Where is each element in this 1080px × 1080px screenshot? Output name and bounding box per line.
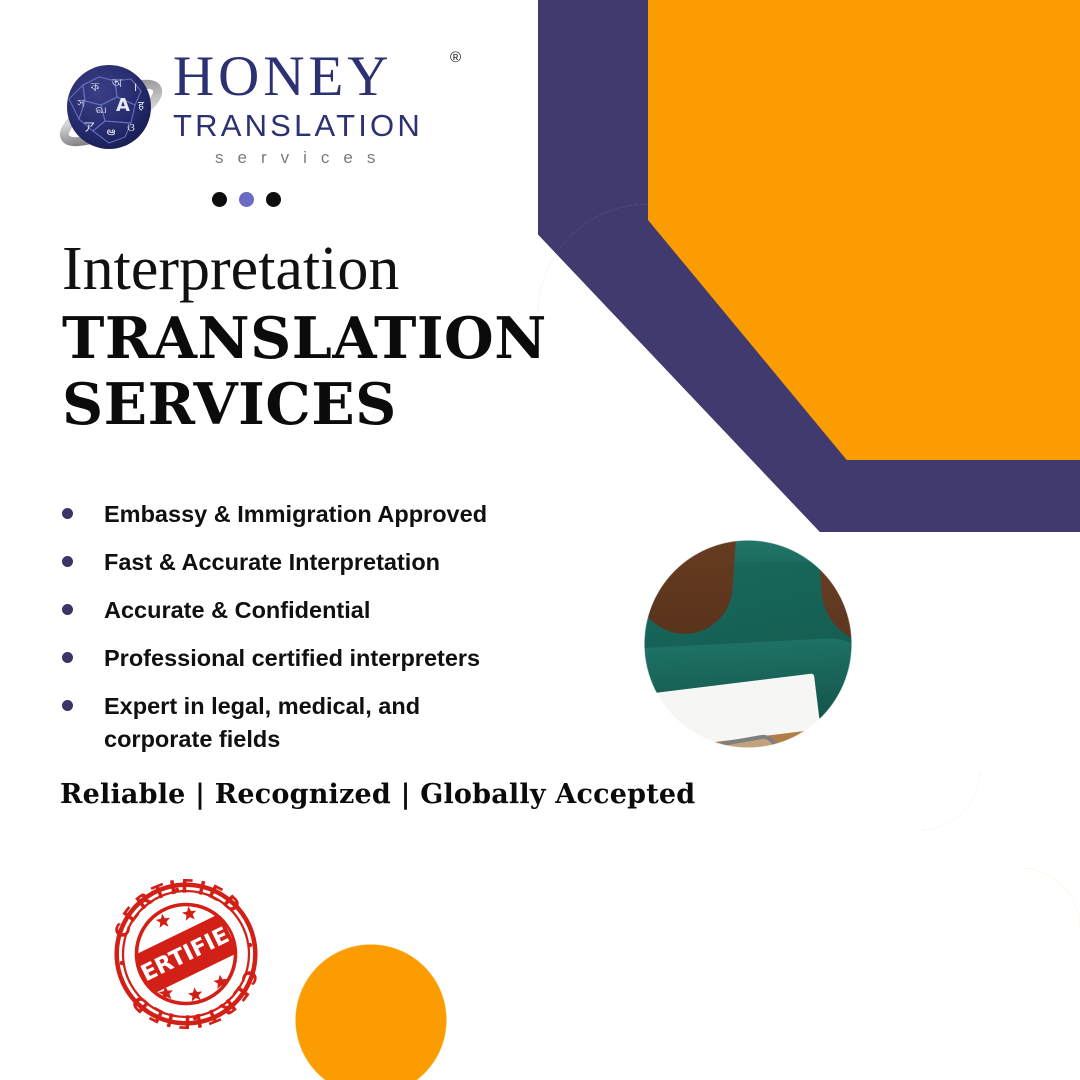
contact-website[interactable]: www.honeytranslations.com www.honeytrans… bbox=[491, 930, 1051, 984]
svg-text:A: A bbox=[116, 95, 130, 116]
registered-trademark-icon: ® bbox=[450, 49, 461, 66]
list-item-label: Professional certified interpreters bbox=[104, 642, 480, 675]
contact-list: www.honeytranslations.com www.honeytrans… bbox=[491, 930, 1051, 1080]
svg-text:ह: ह bbox=[138, 99, 144, 112]
feature-list: Embassy & Immigration Approved Fast & Ac… bbox=[55, 498, 535, 771]
list-item: Fast & Accurate Interpretation bbox=[55, 546, 535, 579]
certified-stamp-icon: CERTIFIED CERTIFIED CERTIFIED bbox=[95, 863, 278, 1046]
envelope-icon bbox=[491, 995, 531, 1035]
photo-clip bbox=[538, 204, 980, 830]
bullet-icon bbox=[62, 508, 73, 519]
decorative-dots bbox=[212, 192, 281, 207]
list-item: Accurate & Confidential bbox=[55, 594, 535, 627]
dot-2 bbox=[239, 192, 254, 207]
tagline: Reliable | Recognized | Globally Accepte… bbox=[60, 779, 695, 810]
bullet-icon bbox=[62, 700, 73, 711]
bullet-icon bbox=[62, 652, 73, 663]
globe-icon: ক অ । স வ A ह ア ఆ ଓ bbox=[55, 55, 167, 167]
phone-text: +91 7299005577 | 08042754952 bbox=[545, 1053, 849, 1080]
photo-book bbox=[538, 400, 568, 504]
website-line-2: www.honeytranslation.in bbox=[545, 957, 829, 984]
headline-script: Interpretation bbox=[62, 232, 532, 306]
contact-panel: REACH US: www.honeytranslations.com www.… bbox=[143, 868, 1080, 1080]
svg-text:অ: অ bbox=[111, 76, 123, 90]
headline-bold-2: SERVICES bbox=[62, 372, 532, 438]
svg-text:ଓ: ଓ bbox=[127, 121, 135, 134]
website-text: www.honeytranslations.com www.honeytrans… bbox=[545, 930, 829, 984]
bullet-icon bbox=[62, 556, 73, 567]
contact-email[interactable]: salesteam@honeytranslations.com bbox=[491, 995, 1051, 1035]
list-item: Professional certified interpreters bbox=[55, 642, 535, 675]
list-item: Embassy & Immigration Approved bbox=[55, 498, 535, 531]
contact-panel-title: REACH US: bbox=[613, 884, 933, 919]
list-item-label: Accurate & Confidential bbox=[104, 594, 370, 627]
headline-bold-1: TRANSLATION bbox=[62, 306, 532, 372]
photo-hair-side bbox=[633, 381, 746, 637]
interpreter-photo bbox=[538, 204, 980, 830]
brand-line3: services bbox=[173, 145, 463, 171]
poster-canvas: ক অ । স வ A ह ア ఆ ଓ HONEY ® TRANSLATION … bbox=[0, 0, 1080, 1080]
svg-text:স: স bbox=[76, 97, 85, 110]
list-item-label: Embassy & Immigration Approved bbox=[104, 498, 487, 531]
contact-phone[interactable]: +91 7299005577 | 08042754952 bbox=[491, 1046, 1051, 1080]
page-title: Interpretation TRANSLATION SERVICES bbox=[62, 232, 532, 438]
brand-name: HONEY bbox=[173, 45, 392, 108]
svg-text:வ: வ bbox=[95, 102, 106, 116]
dot-1 bbox=[212, 192, 227, 207]
dot-3 bbox=[266, 192, 281, 207]
photo-shelf bbox=[572, 204, 587, 624]
email-text: salesteam@honeytranslations.com bbox=[545, 1002, 897, 1029]
svg-text:ক: ক bbox=[90, 80, 100, 94]
list-item: Expert in legal, medical, and corporate … bbox=[55, 690, 535, 756]
photo-hair-side bbox=[807, 372, 935, 647]
svg-text:।: । bbox=[133, 80, 138, 94]
website-line-1: www.honeytranslations.com bbox=[545, 932, 829, 955]
brand-line2: TRANSLATION bbox=[173, 107, 463, 145]
list-item-label: Fast & Accurate Interpretation bbox=[104, 546, 440, 579]
phone-icon bbox=[491, 1046, 531, 1080]
brand-logo[interactable]: ক অ । স வ A ह ア ఆ ଓ HONEY ® TRANSLATION … bbox=[55, 47, 455, 177]
brand-name-row: HONEY ® bbox=[173, 47, 463, 107]
svg-text:ఆ: ఆ bbox=[107, 125, 116, 138]
list-item-label: Expert in legal, medical, and corporate … bbox=[104, 690, 444, 756]
brand-wordmark: HONEY ® TRANSLATION services bbox=[173, 47, 463, 171]
svg-text:ア: ア bbox=[83, 120, 95, 134]
photo-scene bbox=[538, 204, 980, 830]
bullet-icon bbox=[62, 604, 73, 615]
globe-icon bbox=[491, 937, 531, 977]
